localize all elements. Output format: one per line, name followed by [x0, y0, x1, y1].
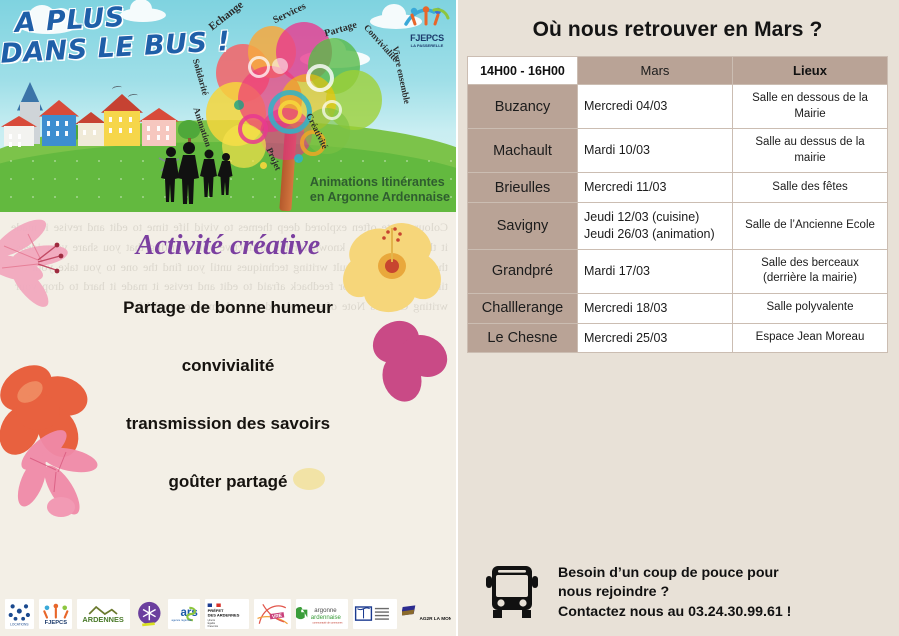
table-row: Savigny Jeudi 12/03 (cuisine)Jeudi 26/03…	[468, 202, 888, 249]
logo-ardennes: ARDENNES	[77, 599, 129, 629]
table-row: Challlerange Mercredi 18/03 Salle polyva…	[468, 293, 888, 323]
logo-ag2r-la-mondiale: AG2R LA MONDIALE	[402, 599, 451, 629]
cell-date: Mercredi 04/03	[578, 85, 733, 129]
panel-divider	[456, 0, 458, 636]
cell-town: Brieulles	[468, 173, 578, 203]
creative-item: convivialité	[0, 356, 456, 376]
family-silhouette-icon	[155, 140, 247, 204]
logo-argonne-emblem	[135, 599, 164, 629]
fjepcs-logo-name: FJEPCS	[404, 33, 450, 43]
schedule-table: 14H00 - 16H00 Mars Lieux Buzancy Mercred…	[467, 56, 888, 353]
schedule-title: Où nous retrouver en Mars ?	[466, 0, 889, 56]
banner-header: Echange Services Partage Convivialité Vi…	[0, 0, 456, 212]
tree-word-label: Vivre ensemble	[390, 45, 412, 105]
table-row: Brieulles Mercredi 11/03 Salle des fêtes	[468, 173, 888, 203]
table-row: Le Chesne Mercredi 25/03 Espace Jean Mor…	[468, 323, 888, 353]
logo-argonne-ardennaise: argonne ardennaise communauté de commune…	[296, 599, 348, 629]
logo-vre: VRE	[254, 599, 291, 629]
schedule-table-body: Buzancy Mercredi 04/03 Salle en dessous …	[468, 85, 888, 353]
contact-block: Besoin d’un coup de pouce pour nous rejo…	[466, 562, 889, 624]
cell-town: Challlerange	[468, 293, 578, 323]
cell-date: Jeudi 12/03 (cuisine)Jeudi 26/03 (animat…	[578, 202, 733, 249]
banner-title: A PLUS DANS LE BUS !	[14, 0, 231, 67]
contact-text: Besoin d’un coup de pouce pour nous rejo…	[558, 564, 791, 621]
cell-town: Grandpré	[468, 249, 578, 293]
fjepcs-logo-sub: LA PASSERELLE	[404, 43, 450, 48]
svg-text:ARDENNES: ARDENNES	[83, 615, 124, 624]
svg-text:communauté de communes: communauté de communes	[313, 622, 344, 625]
cell-place: Salle au dessus de la mairie	[733, 129, 888, 173]
header-month: Mars	[578, 57, 733, 85]
banner-caption-line1: Animations Itinérantes	[310, 175, 450, 191]
svg-text:agence régionale: agence régionale	[172, 618, 193, 622]
cell-date: Mercredi 25/03	[578, 323, 733, 353]
logo-prefet-ardennes: PRÉFET DES ARDENNES Liberté Égalité Frat…	[205, 599, 249, 629]
creative-activity-section: Colours Note often explored deep themes …	[0, 212, 456, 636]
banner-caption: Animations Itinérantes en Argonne Ardenn…	[310, 175, 450, 206]
village-illustration	[0, 74, 180, 146]
cell-town: Buzancy	[468, 85, 578, 129]
cell-place: Salle en dessous de la Mairie	[733, 85, 888, 129]
cell-town: Le Chesne	[468, 323, 578, 353]
creative-title: Activité créative	[0, 230, 456, 262]
tree-word-label: Solidarité	[191, 58, 211, 97]
bus-icon	[482, 562, 544, 624]
cell-date: Mardi 17/03	[578, 249, 733, 293]
cell-place: Salle polyvalente	[733, 293, 888, 323]
logo-locations-familiales: LOCATIONS	[5, 599, 34, 629]
table-row: Buzancy Mercredi 04/03 Salle en dessous …	[468, 85, 888, 129]
cell-town: Savigny	[468, 202, 578, 249]
logo-fjepcs: FJEPCS	[39, 599, 73, 629]
fjepcs-logo: FJEPCS LA PASSERELLE	[404, 6, 450, 48]
logo-ars: ars agence régionale	[168, 599, 200, 629]
header-time: 14H00 - 16H00	[468, 57, 578, 85]
cell-date: Mercredi 18/03	[578, 293, 733, 323]
table-header-row: 14H00 - 16H00 Mars Lieux	[468, 57, 888, 85]
svg-text:Fraternité: Fraternité	[208, 625, 219, 628]
svg-text:ardennaise: ardennaise	[311, 614, 342, 621]
svg-text:AG2R LA MONDIALE: AG2R LA MONDIALE	[420, 616, 451, 621]
schedule-panel: Où nous retrouver en Mars ? 14H00 - 16H0…	[456, 0, 899, 636]
banner-caption-line2: en Argonne Ardennaise	[310, 190, 450, 206]
table-row: Grandpré Mardi 17/03 Salle des berceaux …	[468, 249, 888, 293]
table-row: Machault Mardi 10/03 Salle au dessus de …	[468, 129, 888, 173]
svg-text:argonne: argonne	[314, 607, 337, 614]
creative-item: Partage de bonne humeur	[0, 298, 456, 318]
left-poster: Echange Services Partage Convivialité Vi…	[0, 0, 456, 636]
contact-line2: nous rejoindre ?	[558, 583, 791, 602]
tree-word-label: Partage	[323, 20, 358, 40]
cell-place: Salle des berceaux (derrière la mairie)	[733, 249, 888, 293]
poster-page: Echange Services Partage Convivialité Vi…	[0, 0, 899, 636]
logo-education-nationale	[353, 599, 397, 629]
cell-place: Salle des fêtes	[733, 173, 888, 203]
cell-date: Mercredi 11/03	[578, 173, 733, 203]
svg-text:FJEPCS: FJEPCS	[44, 620, 67, 626]
header-places: Lieux	[733, 57, 888, 85]
creative-item: goûter partagé	[0, 472, 456, 492]
creative-item: transmission des savoirs	[0, 414, 456, 434]
svg-text:DES ARDENNES: DES ARDENNES	[208, 613, 240, 618]
contact-line3: Contactez nous au 03.24.30.99.61 !	[558, 603, 791, 622]
svg-text:LOCATIONS: LOCATIONS	[10, 622, 29, 626]
partner-logos-bar: LOCATIONS FJEPCS ARDENNES	[0, 592, 456, 636]
cell-place: Espace Jean Moreau	[733, 323, 888, 353]
cell-town: Machault	[468, 129, 578, 173]
cell-place: Salle de l’Ancienne Ecole	[733, 202, 888, 249]
cell-date: Mardi 10/03	[578, 129, 733, 173]
creative-items-list: Partage de bonne humeur convivialité tra…	[0, 298, 456, 530]
contact-line1: Besoin d’un coup de pouce pour	[558, 564, 791, 583]
